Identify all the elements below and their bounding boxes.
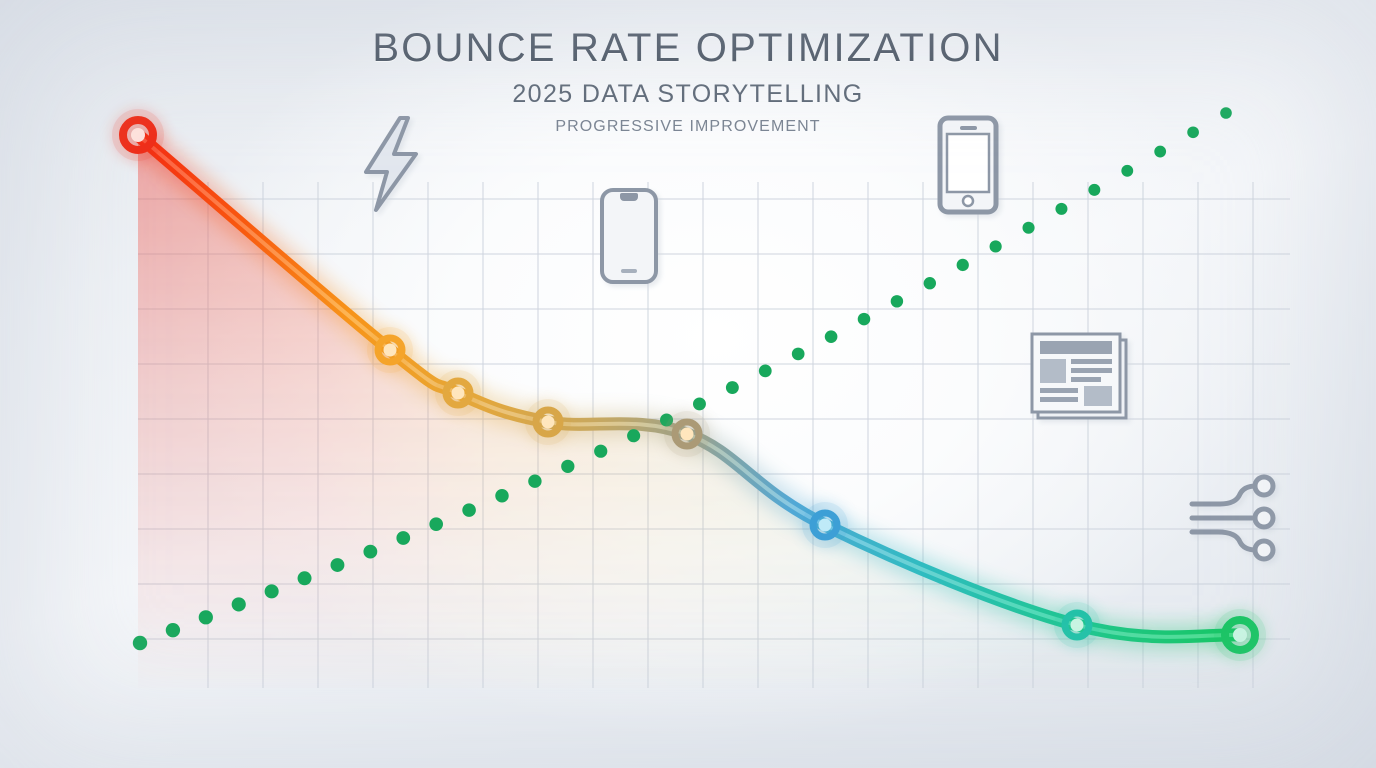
document-icon <box>1032 334 1126 418</box>
circuit-nodes-icon <box>1192 477 1273 559</box>
infographic-chart-canvas: BOUNCE RATE OPTIMIZATION 2025 DATA STORY… <box>0 0 1376 768</box>
page-title: BOUNCE RATE OPTIMIZATION <box>0 28 1376 68</box>
page-subtitle: 2025 DATA STORYTELLING <box>0 82 1376 107</box>
title-block: BOUNCE RATE OPTIMIZATION 2025 DATA STORY… <box>0 28 1376 135</box>
smartphone-notch-icon <box>602 190 656 282</box>
page-tagline: PROGRESSIVE IMPROVEMENT <box>0 119 1376 135</box>
